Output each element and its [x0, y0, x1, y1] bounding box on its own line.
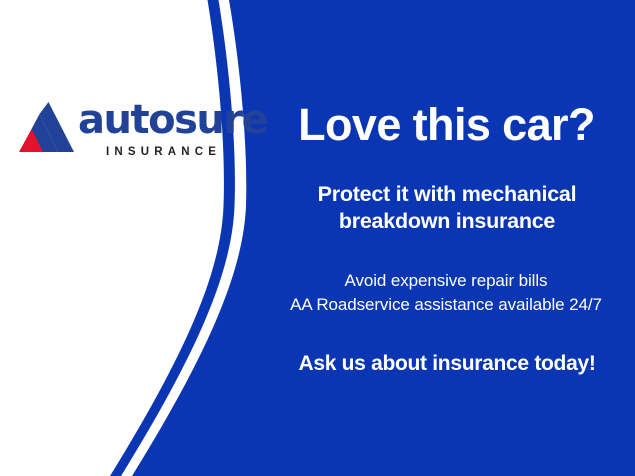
- advert-benefit-item: AA Roadservice assistance available 24/7: [260, 293, 632, 317]
- advert-benefit-item: Avoid expensive repair bills: [260, 269, 632, 293]
- advert-copy-block: Love this car? Protect it with mechanica…: [258, 0, 635, 476]
- autosure-insurance-advert: autosure INSURANCE Love this car? Protec…: [0, 0, 635, 476]
- advert-headline: Love this car?: [258, 100, 635, 150]
- advert-subheading: Protect it with mechanical breakdown ins…: [266, 181, 628, 235]
- advert-call-to-action: Ask us about insurance today!: [262, 351, 632, 377]
- brand-logo: autosure INSURANCE: [18, 98, 233, 168]
- advert-subheading-line-2: breakdown insurance: [266, 208, 628, 235]
- autosure-triangle-logo-icon: [18, 102, 74, 154]
- brand-tagline: INSURANCE: [106, 144, 233, 160]
- brand-wordmark: autosure: [78, 98, 233, 142]
- advert-subheading-line-1: Protect it with mechanical: [266, 181, 628, 208]
- brand-wordmark-group: autosure INSURANCE: [78, 98, 233, 160]
- advert-benefits-list: Avoid expensive repair bills AA Roadserv…: [260, 269, 632, 317]
